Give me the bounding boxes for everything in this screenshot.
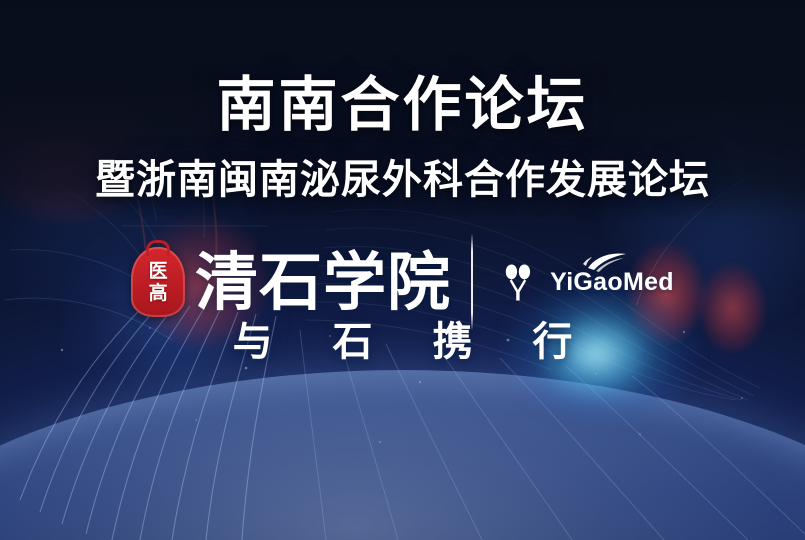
yigao-seal-badge: 医 高 (131, 247, 185, 317)
banner-tagline: 与 石 携 行 (0, 322, 805, 362)
swoosh-arc-icon (582, 252, 628, 272)
seal-char-top: 医 (149, 262, 168, 281)
brand-lockup: 医 高 清石学院 YiGa (0, 232, 805, 332)
brand-name-cn: 清石学院 (195, 251, 451, 314)
partner-name-text: YiGaoMed (550, 268, 674, 296)
banner-main-title: 南南合作论坛 (0, 74, 805, 137)
kidney-pair-icon (495, 259, 541, 305)
event-banner: 南南合作论坛 暨浙南闽南泌尿外科合作发展论坛 医 高 清石学院 (0, 0, 805, 540)
lockup-divider (471, 234, 473, 330)
seal-char-bottom: 高 (149, 284, 168, 303)
partner-name: YiGaoMed (550, 268, 674, 297)
banner-subtitle: 暨浙南闽南泌尿外科合作发展论坛 (0, 158, 805, 202)
partner-logo: YiGaoMed (495, 259, 674, 305)
